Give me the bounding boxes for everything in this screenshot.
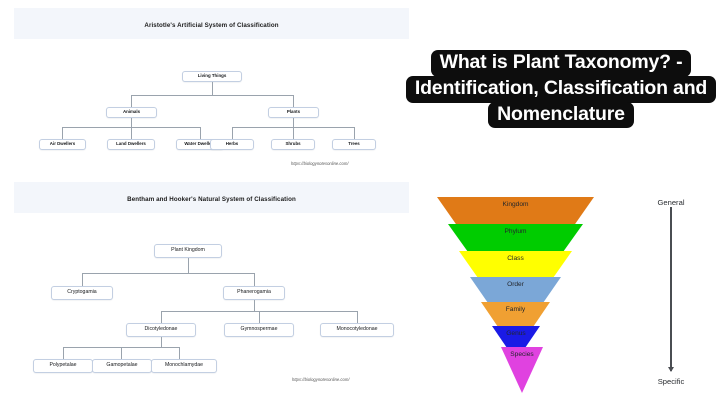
edge-plants-child-1	[232, 127, 233, 139]
edge-to-animals	[131, 95, 132, 107]
edge-phanerogamia-stem	[254, 300, 255, 311]
taxonomy-pyramid: Kingdom Phylum Class Order Family Genus	[437, 197, 594, 393]
node-gymnospermae[interactable]: Gymnospermae	[224, 323, 294, 337]
node-dicotyledonae[interactable]: Dicotyledonae	[126, 323, 196, 337]
node-monochlamydae[interactable]: Monochlamydae	[151, 359, 217, 373]
article-title-line-1: What is Plant Taxonomy? -	[431, 50, 692, 77]
pyramid-label-order: Order	[507, 281, 524, 288]
pyramid-label-genus: Genus	[506, 330, 525, 337]
bentham-hooker-diagram-title-band: Bentham and Hooker's Natural System of C…	[14, 182, 409, 213]
node-monocotyledonae[interactable]: Monocotyledonae	[320, 323, 394, 337]
article-title-line-3: Nomenclature	[488, 102, 634, 129]
edge-to-monocotyledonae	[357, 311, 358, 323]
node-polypetalae[interactable]: Polypetalae	[33, 359, 93, 373]
axis-arrow-down-icon	[668, 367, 674, 372]
edge-to-dicotyledonae	[161, 311, 162, 323]
article-title-line-2: Identification, Classification and	[406, 76, 716, 103]
aristotle-tree-area: Living Things Animals Plants Air Dweller…	[14, 39, 409, 159]
node-phanerogamia[interactable]: Phanerogamia	[223, 286, 285, 300]
node-living-things[interactable]: Living Things	[182, 71, 242, 82]
edge-plants-child-3	[354, 127, 355, 139]
edge-plant-kingdom-stem	[188, 258, 189, 273]
axis-line	[670, 207, 671, 371]
aristotle-diagram-title-band: Aristotle's Artificial System of Classif…	[14, 8, 409, 39]
axis-label-specific: Specific	[658, 377, 685, 386]
edge-plants-stem	[293, 118, 294, 127]
bentham-hooker-diagram-title: Bentham and Hooker's Natural System of C…	[127, 196, 296, 203]
edge-level1-bus	[131, 95, 293, 96]
edge-dicotyledonae-stem	[161, 337, 162, 347]
edge-to-cryptogamia	[82, 273, 83, 286]
pyramid-band-class[interactable]: Class	[459, 251, 572, 278]
node-air-dwellers[interactable]: Air Dwellers	[39, 139, 86, 150]
pyramid-label-species: Species	[510, 351, 533, 358]
edge-animals-stem	[131, 118, 132, 127]
node-shrubs[interactable]: Shrubs	[271, 139, 315, 150]
pyramid-label-class: Class	[507, 255, 524, 262]
edge-plants-child-2	[293, 127, 294, 139]
node-plants[interactable]: Plants	[268, 107, 319, 118]
node-plant-kingdom[interactable]: Plant Kingdom	[154, 244, 222, 258]
aristotle-diagram-card: Aristotle's Artificial System of Classif…	[14, 8, 409, 158]
edge-root-stem	[212, 82, 213, 95]
node-land-dwellers[interactable]: Land Dwellers	[107, 139, 155, 150]
edge-to-phanerogamia	[254, 273, 255, 286]
edge-to-monochlamydae	[179, 347, 180, 359]
node-herbs[interactable]: Herbs	[210, 139, 254, 150]
edge-bh-level1-bus	[82, 273, 254, 274]
node-gamopetalae[interactable]: Gamopetalae	[92, 359, 152, 373]
edge-to-plants	[293, 95, 294, 107]
bentham-hooker-diagram-card: Bentham and Hooker's Natural System of C…	[14, 182, 409, 367]
pyramid-band-species[interactable]: Species	[501, 347, 543, 393]
edge-to-gymnospermae	[259, 311, 260, 323]
axis-label-general: General	[657, 198, 684, 207]
pyramid-band-family[interactable]: Family	[481, 302, 550, 327]
pyramid-label-phylum: Phylum	[505, 228, 527, 235]
node-animals[interactable]: Animals	[106, 107, 157, 118]
pyramid-band-genus[interactable]: Genus	[492, 326, 540, 348]
pyramid-band-phylum[interactable]: Phylum	[448, 224, 583, 252]
generality-axis: General Specific	[640, 198, 702, 386]
pyramid-label-family: Family	[506, 306, 525, 313]
edge-animals-child-3	[200, 127, 201, 139]
aristotle-watermark: https://biologynotesonline.com/	[291, 161, 349, 166]
pyramid-band-kingdom[interactable]: Kingdom	[437, 197, 594, 227]
edge-to-gamopetalae	[121, 347, 122, 359]
pyramid-label-kingdom: Kingdom	[502, 201, 528, 208]
edge-animals-child-2	[131, 127, 132, 139]
bentham-hooker-watermark: https://biologynotesonline.com/	[292, 377, 350, 382]
node-trees[interactable]: Trees	[332, 139, 376, 150]
node-cryptogamia[interactable]: Cryptogamia	[51, 286, 113, 300]
pyramid-band-order[interactable]: Order	[470, 277, 561, 303]
aristotle-diagram-title: Aristotle's Artificial System of Classif…	[144, 22, 278, 29]
edge-to-polypetalae	[63, 347, 64, 359]
axis-line-wrap	[667, 207, 676, 371]
article-title-plate: What is Plant Taxonomy? - Identification…	[408, 50, 714, 127]
bentham-hooker-tree-area: Plant Kingdom Cryptogamia Phanerogamia D…	[14, 213, 409, 373]
edge-animals-child-1	[62, 127, 63, 139]
